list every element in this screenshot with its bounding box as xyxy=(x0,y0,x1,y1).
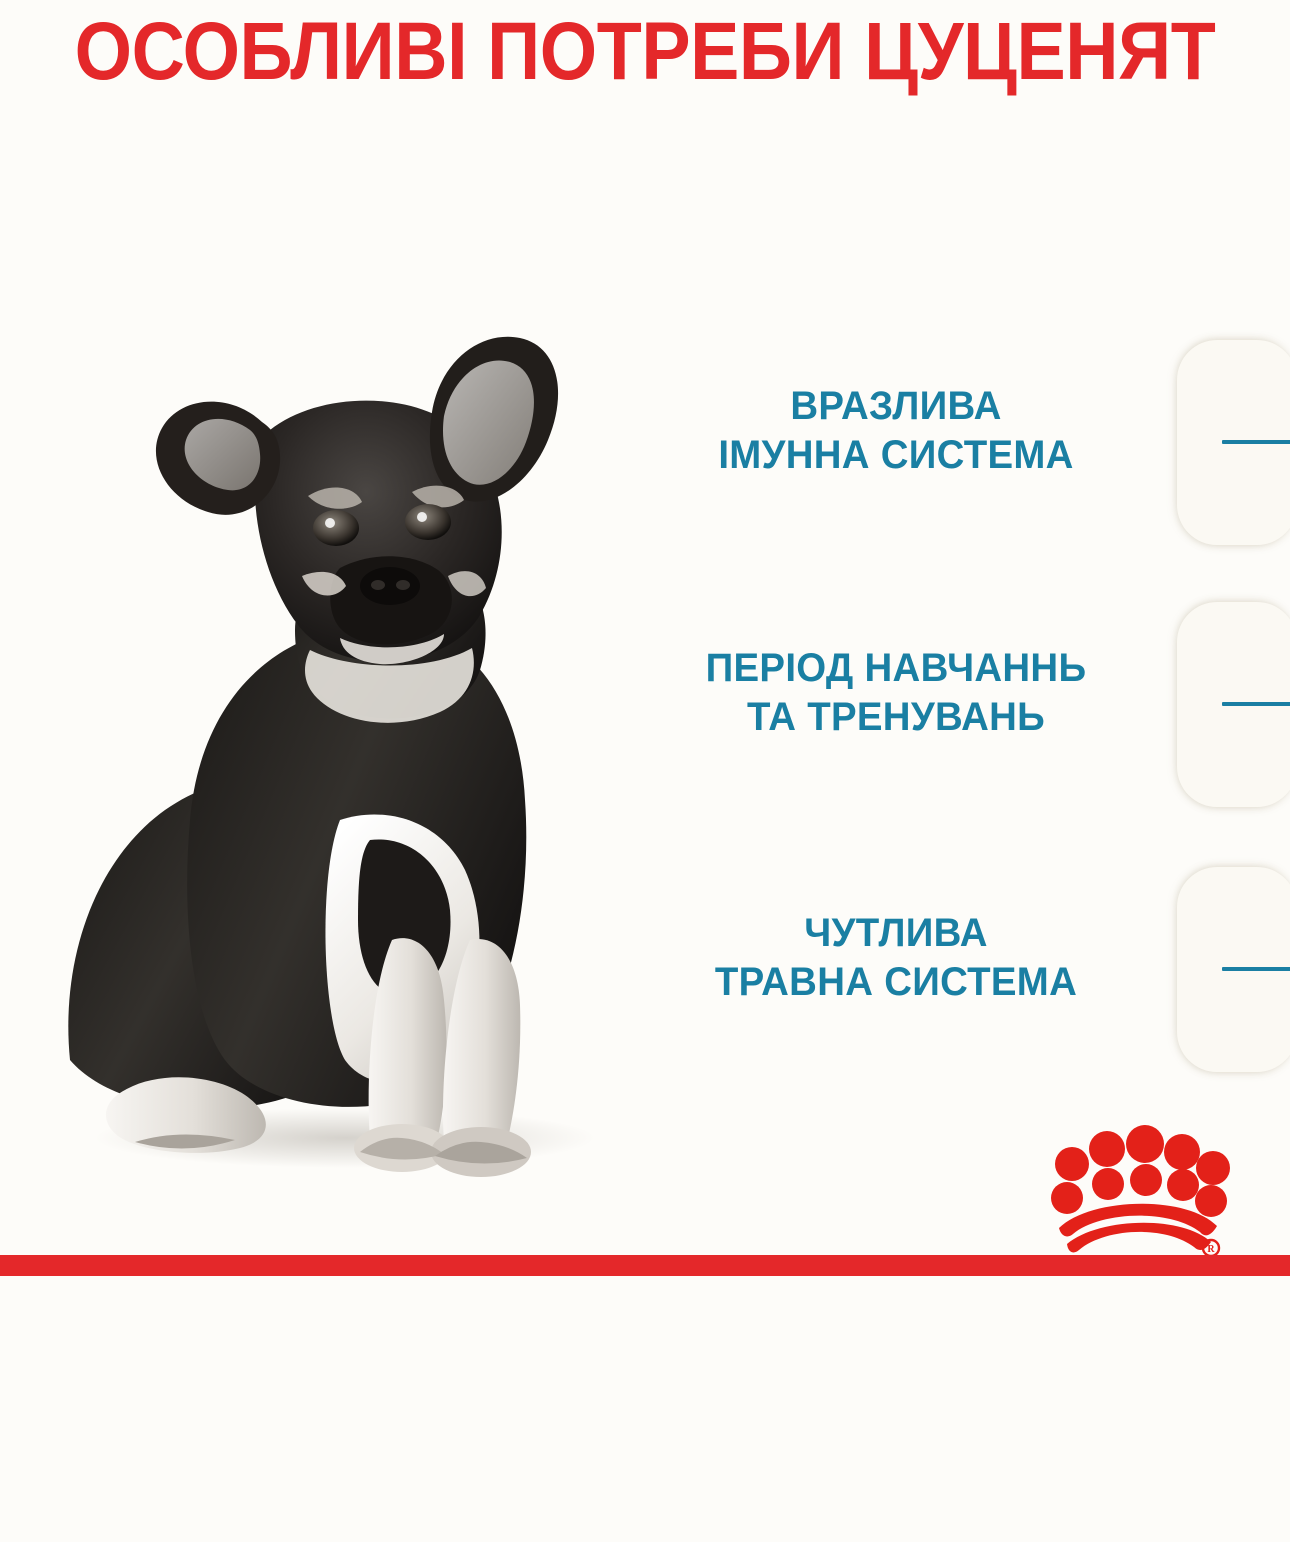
feature-connector-line xyxy=(1222,702,1290,706)
svg-text:R: R xyxy=(1207,1244,1215,1255)
feature-label-line1: ПЕРІОД НАВЧАННЬ xyxy=(706,646,1087,690)
puppy-eye-right xyxy=(405,504,451,540)
feature-item-immune-system: ВРАЗЛИВА ІМУННА СИСТЕМА xyxy=(660,340,1290,550)
royal-canin-crown-icon: R xyxy=(1045,1122,1225,1232)
feature-label-line1: ВРАЗЛИВА xyxy=(790,384,1001,428)
feature-connector-line xyxy=(1222,967,1290,971)
puppy-eye-left xyxy=(313,510,359,546)
feature-item-digestive-system: ЧУТЛИВА ТРАВНА СИСТЕМА xyxy=(660,867,1290,1077)
feature-connector-line xyxy=(1222,440,1290,444)
feature-list: ВРАЗЛИВА ІМУННА СИСТЕМА ПЕРІОД НАВЧАННЬ … xyxy=(660,330,1290,1090)
infographic-page: ОСОБЛИВІ ПОТРЕБИ ЦУЦЕНЯТ xyxy=(0,0,1290,1542)
feature-label-line2: ІМУННА СИСТЕМА xyxy=(669,431,1122,480)
feature-item-training-period: ПЕРІОД НАВЧАННЬ ТА ТРЕНУВАНЬ xyxy=(660,602,1290,812)
feature-label: ЧУТЛИВА ТРАВНА СИСТЕМА xyxy=(669,909,1122,1007)
feature-label: ВРАЗЛИВА ІМУННА СИСТЕМА xyxy=(669,382,1122,480)
feature-label: ПЕРІОД НАВЧАННЬ ТА ТРЕНУВАНЬ xyxy=(669,644,1122,742)
puppy-nose xyxy=(360,567,420,605)
feature-label-line1: ЧУТЛИВА xyxy=(804,911,987,955)
page-title: ОСОБЛИВІ ПОТРЕБИ ЦУЦЕНЯТ xyxy=(65,8,1226,96)
feature-label-line2: ТА ТРЕНУВАНЬ xyxy=(669,693,1122,742)
bottom-blank-area xyxy=(0,1276,1290,1542)
feature-label-line2: ТРАВНА СИСТЕМА xyxy=(669,958,1122,1007)
bottom-red-bar xyxy=(0,1255,1290,1276)
puppy-photo xyxy=(40,300,660,1200)
